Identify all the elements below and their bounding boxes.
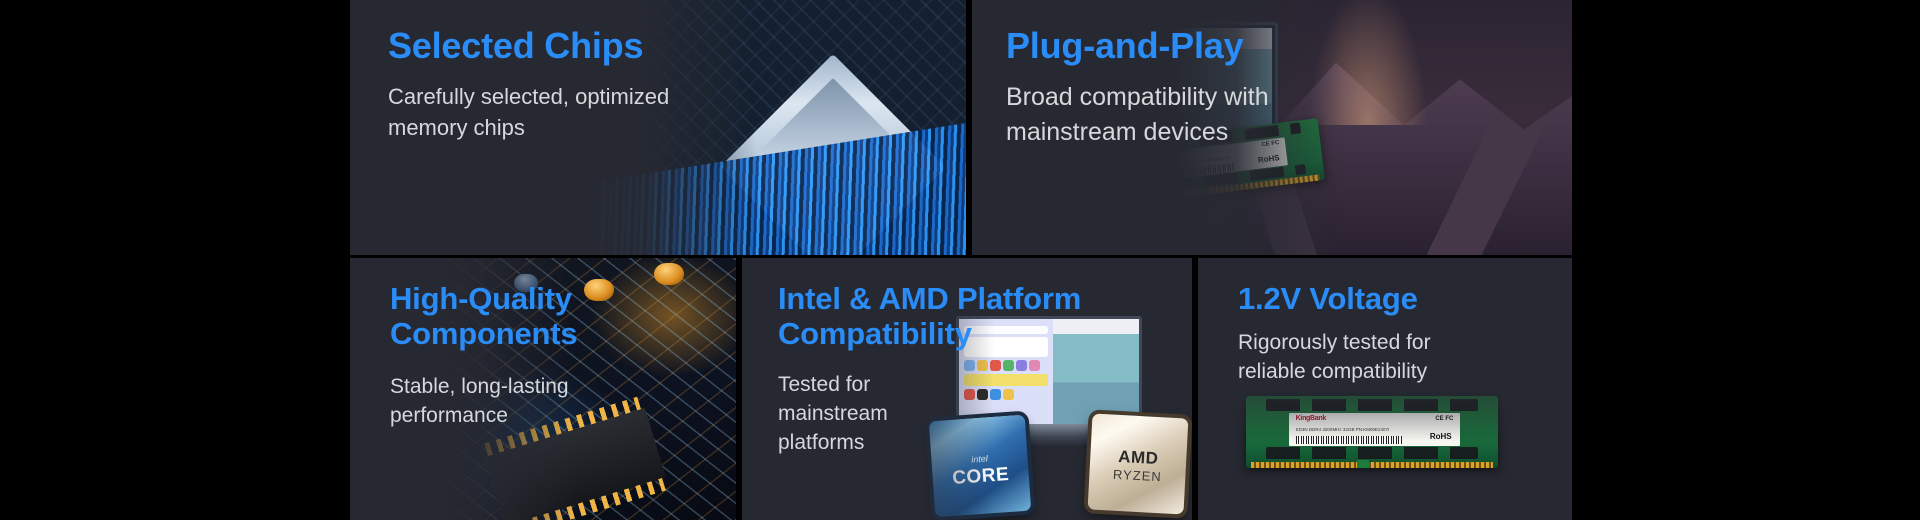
ce-fc-mark: CE FC [1435, 416, 1453, 422]
high-quality-text: High-Quality Components Stable, long-las… [390, 282, 640, 431]
card-body: Tested for mainstream platforms [778, 371, 933, 458]
feature-card-selected-chips[interactable]: Selected Chips Carefully selected, optim… [350, 0, 966, 255]
module-notch [1357, 460, 1370, 468]
card-title: Plug-and-Play [1006, 26, 1286, 66]
card-title: Selected Chips [388, 26, 678, 66]
module-brand: KingBank [1296, 415, 1326, 422]
intel-family-label: CORE [932, 463, 1029, 492]
feature-card-plug-and-play[interactable]: KingBank CE FC KD3N DDR4 3200MHz 32GB PN… [972, 0, 1572, 255]
card-title: Intel & AMD Platform Compatibility [778, 282, 1158, 351]
selected-chips-text: Selected Chips Carefully selected, optim… [388, 26, 678, 143]
rohs-mark: RoHS [1430, 432, 1452, 441]
capacitor-icon [654, 263, 684, 285]
feature-card-intel-amd-platform[interactable]: intel CORE AMD RYZEN Intel & AMD Platfor… [742, 258, 1192, 520]
module-pins [1251, 462, 1493, 468]
voltage-text: 1.2V Voltage Rigorously tested for relia… [1238, 282, 1488, 387]
platform-text: Intel & AMD Platform Compatibility Teste… [778, 282, 1158, 458]
barcode-icon [1296, 436, 1402, 445]
amd-family-label: RYZEN [1089, 465, 1186, 485]
barcode-icon [1138, 163, 1235, 182]
memory-module-image: KingBank CE FC KD3N DDR4 3200MHz 32GB PN… [1246, 396, 1498, 468]
module-pins [1101, 175, 1321, 207]
laptop-base [1018, 160, 1290, 186]
rohs-mark: RoHS [1257, 153, 1280, 165]
feature-card-voltage[interactable]: KingBank CE FC KD3N DDR4 3200MHz 32GB PN… [1198, 258, 1572, 520]
card-title: High-Quality Components [390, 282, 640, 351]
plug-and-play-text: Plug-and-Play Broad compatibility with m… [1006, 26, 1286, 149]
module-spec-line: KD3N DDR4 3200MHz 32GB PN:KM00E2407I [1137, 155, 1230, 171]
card-body: Broad compatibility with mainstream devi… [1006, 80, 1286, 149]
feature-card-high-quality-components[interactable]: High-Quality Components Stable, long-las… [350, 258, 736, 520]
feature-grid: Selected Chips Carefully selected, optim… [0, 0, 1920, 520]
card-body: Rigorously tested for reliable compatibi… [1238, 329, 1488, 387]
card-body: Stable, long-lasting performance [390, 373, 640, 431]
module-brand: KingBank [1136, 153, 1167, 164]
module-label: KingBank CE FC KD3N DDR4 3200MHz 32GB PN… [1289, 413, 1460, 446]
module-spec-line: KD3N DDR4 3200MHz 32GB PN:KM00E2407I [1296, 427, 1390, 432]
module-notch [1196, 187, 1208, 195]
cpu-die-icon [720, 54, 946, 255]
card-title: 1.2V Voltage [1238, 282, 1488, 317]
card-body: Carefully selected, optimized memory chi… [388, 82, 678, 143]
